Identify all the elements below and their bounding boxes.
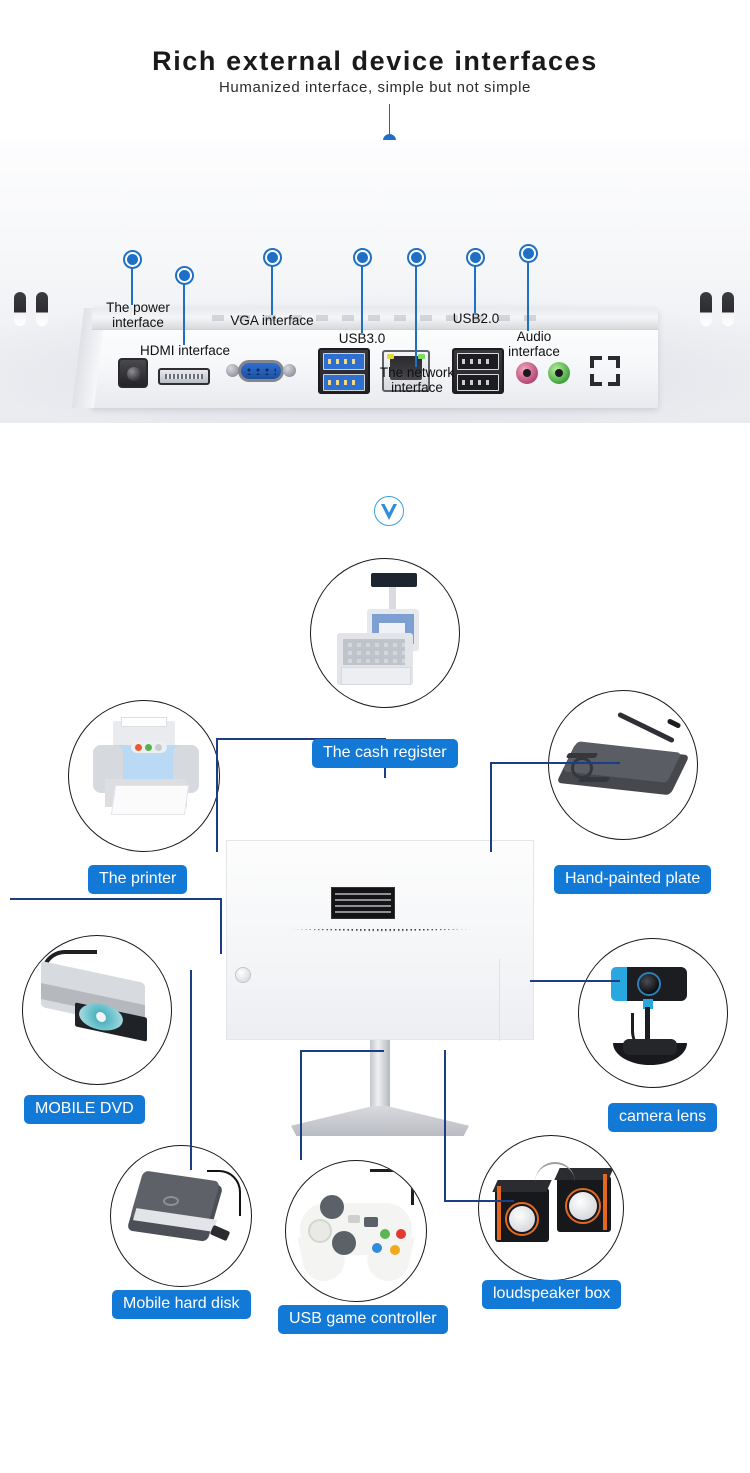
callout-label-power: The power interface xyxy=(88,300,188,330)
callout-label-audio: Audio interface xyxy=(488,329,580,359)
device-label-camera[interactable]: camera lens xyxy=(608,1103,717,1132)
power-button-icon[interactable] xyxy=(235,967,251,983)
rj45-led-icon xyxy=(387,354,394,359)
rubber-foot-icon xyxy=(722,292,734,326)
usb3-slot xyxy=(323,374,365,391)
callout-label-network: The network interface xyxy=(362,365,472,395)
callout-label-vga: VGA interface xyxy=(210,313,334,328)
line-out-jack-icon xyxy=(548,362,570,384)
callout-label-usb2: USB2.0 xyxy=(442,311,510,326)
callout-line-usb2 xyxy=(474,265,476,313)
device-label-hdd[interactable]: Mobile hard disk xyxy=(112,1290,251,1319)
cash-register-icon xyxy=(310,558,460,708)
webcam-icon xyxy=(578,938,728,1088)
callout-dot-usb3 xyxy=(355,250,370,265)
external-dvd-icon xyxy=(22,935,172,1085)
callout-line-network xyxy=(415,265,417,367)
vga-connector-body xyxy=(238,360,284,382)
power-jack-icon xyxy=(118,358,148,388)
vga-screw-icon xyxy=(283,364,296,377)
page-title: Rich external device interfaces xyxy=(0,46,750,77)
external-hdd-icon xyxy=(110,1145,252,1287)
header: Rich external device interfaces Humanize… xyxy=(0,0,750,140)
link-camera-h xyxy=(530,980,620,982)
product-spec-sticker xyxy=(331,887,395,919)
monitor-panel-seam xyxy=(499,959,533,1041)
speaker-pair-icon xyxy=(478,1135,624,1281)
link-tablet-v xyxy=(490,762,492,852)
callout-line-usb3 xyxy=(361,265,363,333)
link-printer-v xyxy=(216,738,218,852)
gamepad-icon xyxy=(285,1160,427,1302)
port-panel-photo: The power interface HDMI interface VGA i… xyxy=(0,140,750,423)
link-speaker-h xyxy=(444,1200,514,1202)
link-gamepad-v xyxy=(300,1050,302,1160)
page-subtitle: Humanized interface, simple but not simp… xyxy=(0,79,750,96)
callout-dot-network xyxy=(409,250,424,265)
callout-line-audio xyxy=(527,261,529,331)
link-speaker-v xyxy=(444,1050,446,1200)
device-label-gamepad[interactable]: USB game controller xyxy=(278,1305,448,1334)
callout-label-usb3: USB3.0 xyxy=(328,331,396,346)
callout-dot-vga xyxy=(265,250,280,265)
hdmi-port-icon xyxy=(158,368,210,385)
link-tablet-h xyxy=(490,762,620,764)
monitor-stand-base xyxy=(291,1106,469,1136)
callout-dot-hdmi xyxy=(177,268,192,283)
link-hdd-v xyxy=(190,970,192,1170)
device-label-dvd[interactable]: MOBILE DVD xyxy=(24,1095,145,1124)
graphics-tablet-icon xyxy=(548,690,698,840)
rubber-foot-icon xyxy=(14,292,26,326)
monitor-vent-grille xyxy=(255,929,507,945)
callout-dot-usb2 xyxy=(468,250,483,265)
rj45-led-icon xyxy=(418,354,425,359)
link-dvd-v xyxy=(220,898,222,954)
usb3-slot xyxy=(323,353,365,370)
product-infographic: Rich external device interfaces Humanize… xyxy=(0,0,750,1473)
link-gamepad-h xyxy=(300,1050,384,1052)
printer-icon xyxy=(68,700,220,852)
device-label-cash-register[interactable]: The cash register xyxy=(312,739,458,768)
chevron-down-circle-icon xyxy=(374,496,404,526)
callout-label-hdmi: HDMI interface xyxy=(116,343,254,358)
peripheral-map: The printer The cash register xyxy=(0,540,750,1473)
device-label-tablet[interactable]: Hand-painted plate xyxy=(554,865,711,894)
vga-port-icon xyxy=(228,356,294,386)
callout-dot-audio xyxy=(521,246,536,261)
header-connector-line xyxy=(389,104,390,138)
rubber-foot-icon xyxy=(36,292,48,326)
all-in-one-pc-back xyxy=(226,840,534,1040)
kensington-lock-icon xyxy=(590,356,620,386)
device-label-printer[interactable]: The printer xyxy=(88,865,187,894)
callout-line-vga xyxy=(271,265,273,315)
link-dvd-h xyxy=(10,898,222,900)
rubber-foot-icon xyxy=(700,292,712,326)
device-label-speaker[interactable]: loudspeaker box xyxy=(482,1280,621,1309)
mic-jack-icon xyxy=(516,362,538,384)
callout-dot-power xyxy=(125,252,140,267)
